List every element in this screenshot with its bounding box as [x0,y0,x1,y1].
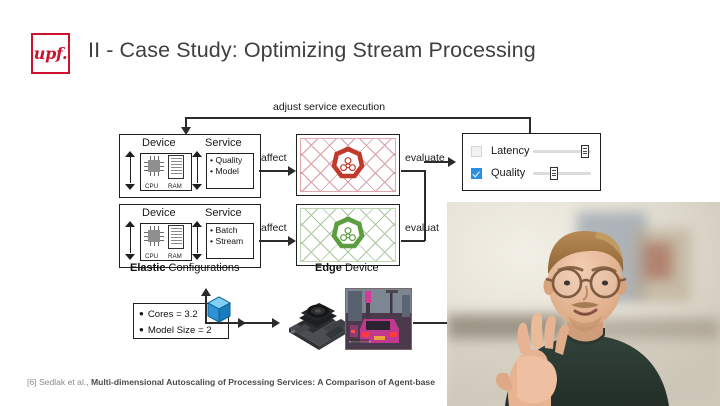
affect-label-1: affect [261,152,287,164]
metric-row-latency[interactable]: Latency [471,142,530,160]
config-2-ram-label: RAM [168,253,182,260]
affect-line-2 [259,240,290,242]
footnote-citation: [6] Sedlak et al., Multi-dimensional Aut… [27,377,435,387]
slide-canvas: upf. II - Case Study: Optimizing Stream … [0,0,720,406]
kubernetes-icon [330,217,366,253]
presenter-video-frame [447,202,720,406]
parameter-model-size: Model Size = 2 [139,322,228,338]
config-2-device-label: Device [142,207,176,219]
config-1-service-item-1: Quality [210,155,253,166]
config-2-service-item-2: Stream [210,236,253,247]
config-2-device-scale-arrow [125,221,136,260]
kubernetes-icon [330,147,366,183]
upf-logo: upf. [31,33,70,74]
edge-device-box-2[interactable] [296,204,400,266]
config-2-service-items: Batch Stream [206,223,254,259]
latency-slider[interactable] [533,144,591,158]
config-1-ram-label: RAM [168,183,182,190]
quality-slider[interactable] [533,166,591,180]
affect-line-1 [259,170,290,172]
feedback-line-horizontal [185,117,531,119]
upf-logo-text: upf. [34,46,68,62]
cpu-icon [144,226,164,246]
cube-axis-arrow-up [201,288,211,296]
config-1-service-items: Quality Model [206,153,254,189]
jetson-board-photo [285,288,353,354]
evaluate-merge-line [424,170,426,241]
config-1-service-item-2: Model [210,166,253,177]
feedback-line-vertical-right [529,117,531,134]
evaluate-line-to-metrics [424,161,450,163]
config-1-device-scale-arrow [125,151,136,190]
metrics-panel[interactable]: Latency Quality [462,133,601,191]
config-2-service-item-1: Batch [210,225,253,236]
edge-device-caption: Edge Device [315,262,379,274]
latency-slider-thumb[interactable] [581,145,589,158]
affect-arrow-2 [288,236,296,246]
cpu-icon [144,156,164,176]
page-title: II - Case Study: Optimizing Stream Proce… [88,38,536,63]
metric-row-quality[interactable]: Quality [471,164,525,182]
quality-slider-thumb[interactable] [550,167,558,180]
config-1-device-label: Device [142,137,176,149]
quality-checkbox[interactable] [471,168,482,179]
evaluate-arrow-head [448,157,456,167]
config-2-service-scale-arrow [192,221,203,260]
evaluate-line-1 [401,170,425,172]
feedback-label: adjust service execution [273,101,385,113]
config-2-service-label: Service [205,207,242,219]
elastic-config-box-2[interactable]: Device Service [119,204,261,268]
latency-checkbox[interactable] [471,146,482,157]
footnote-title: Multi-dimensional Autoscaling of Process… [91,377,435,387]
ram-icon [168,155,184,179]
elastic-configurations-caption: Elastic Configurations [130,262,239,274]
config-1-hardware-box: CPU RAM [140,153,192,191]
latency-label: Latency [491,145,530,157]
config-2-cpu-label: CPU [145,253,158,260]
ram-icon [168,225,184,249]
evaluate-line-2 [401,240,425,242]
footnote-ref: [6] Sedlak et al., [27,377,91,387]
affect-arrow-1 [288,166,296,176]
deploy-line [232,322,274,324]
quality-label: Quality [491,167,525,179]
config-1-service-label: Service [205,137,242,149]
elastic-config-box-1[interactable]: Device Service [119,134,261,198]
presenter-video-overlay[interactable] [447,202,720,406]
traffic-detection-photo [345,288,412,350]
cube-icon [206,296,232,324]
config-1-service-scale-arrow [192,151,203,190]
config-2-hardware-box: CPU RAM [140,223,192,261]
evaluate-label-2: evaluat [405,222,439,234]
deploy-arrow-head [272,318,280,328]
affect-label-2: affect [261,222,287,234]
edge-device-box-1[interactable] [296,134,400,196]
config-1-cpu-label: CPU [145,183,158,190]
